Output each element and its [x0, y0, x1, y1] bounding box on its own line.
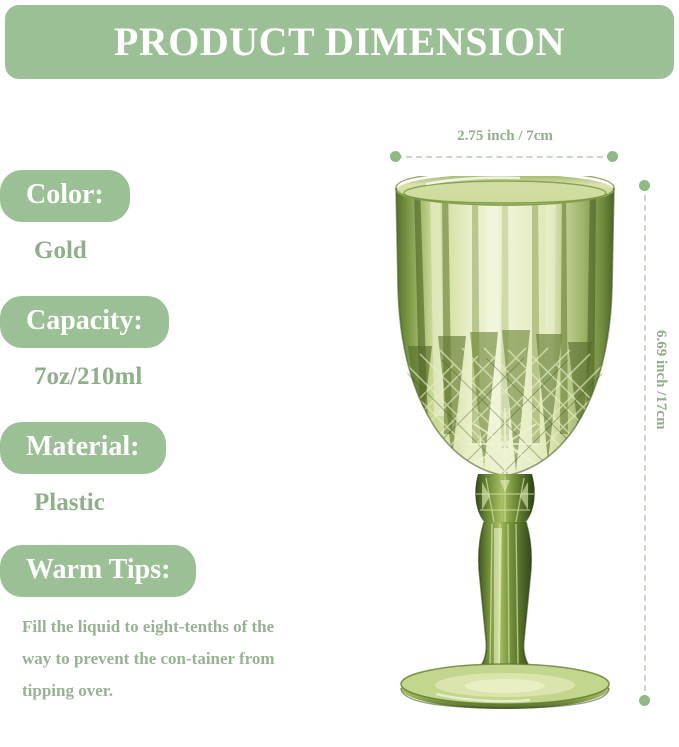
spec-value-capacity: 7oz/210ml: [0, 364, 372, 389]
warm-tips-text: Fill the liquid to eight-tenths of the w…: [0, 611, 352, 707]
spec-label-material: Material:: [0, 422, 166, 474]
spec-label-capacity: Capacity:: [0, 296, 169, 348]
height-dimension-annotation: 6.69 inch /17cm: [628, 180, 679, 708]
goblet-stem: [466, 474, 544, 686]
spec-value-color: Gold: [0, 238, 372, 263]
height-dimension-endpoint-bottom-dot: [639, 695, 650, 706]
page-header-banner: PRODUCT DIMENSION: [5, 5, 674, 79]
warm-tips-line-2: way to prevent the con-tainer from: [22, 643, 352, 675]
width-dimension-endpoint-right-dot: [607, 151, 618, 162]
spec-item-capacity: Capacity: 7oz/210ml: [0, 296, 372, 389]
spec-label-color: Color:: [0, 170, 130, 222]
goblet-foot: [401, 664, 609, 709]
width-dimension-endpoint-left-dot: [390, 151, 401, 162]
width-dimension-annotation: 2.75 inch / 7cm: [390, 128, 620, 168]
product-image-wine-goblet: [390, 176, 620, 711]
warm-tips-line-1: Fill the liquid to eight-tenths of the: [22, 611, 352, 643]
warm-tips-line-3: tipping over.: [22, 675, 352, 707]
height-dimension-label: 6.69 inch /17cm: [652, 330, 669, 430]
height-dimension-dashed-line: [644, 185, 648, 701]
width-dimension-dashed-line: [396, 156, 613, 160]
spec-item-warm-tips: Warm Tips: Fill the liquid to eight-tent…: [0, 545, 372, 707]
height-dimension-endpoint-top-dot: [639, 180, 650, 191]
spec-label-warm-tips: Warm Tips:: [0, 545, 196, 597]
spec-value-material: Plastic: [0, 490, 372, 515]
spec-item-color: Color: Gold: [0, 170, 372, 263]
page-title: PRODUCT DIMENSION: [114, 22, 565, 62]
spec-item-material: Material: Plastic: [0, 422, 372, 515]
width-dimension-label: 2.75 inch / 7cm: [390, 128, 620, 145]
